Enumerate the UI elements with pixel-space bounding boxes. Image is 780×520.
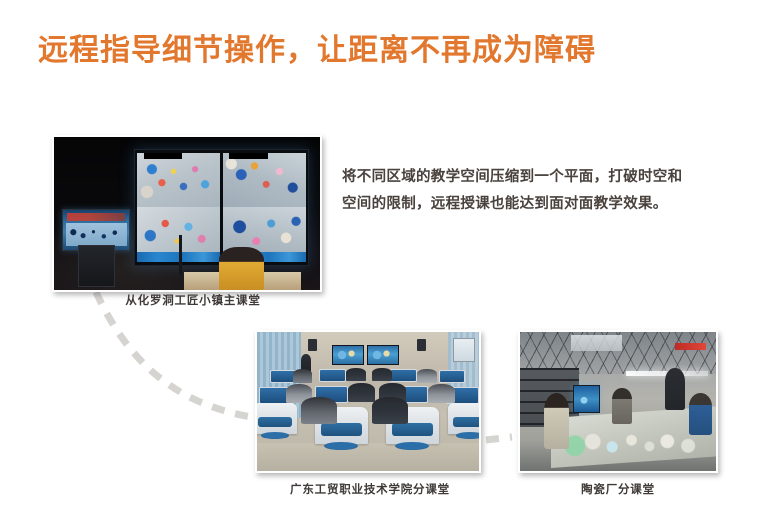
lab-seat (257, 403, 297, 434)
photo-ceramics-factory[interactable] (518, 330, 718, 473)
lab-window (453, 338, 475, 362)
lab-seat-pad (258, 417, 292, 427)
caption-college-classroom: 广东工贸职业技术学院分课堂 (272, 481, 468, 497)
lab-display-right (367, 345, 399, 366)
lab-student (301, 397, 337, 424)
photo-ceramics-factory-image (520, 332, 716, 471)
lab-front-displays (332, 345, 399, 366)
video-feed-1 (137, 153, 220, 207)
lab-seat-pad (321, 423, 361, 436)
caption-main-classroom: 从化罗洞工匠小镇主课堂 (108, 292, 278, 308)
factory-red-banner (675, 343, 706, 350)
lab-student (417, 369, 437, 382)
lab-seat-rows (257, 368, 479, 471)
photo-college-classroom-image (257, 332, 479, 471)
lab-seat-pad (453, 417, 479, 427)
photo-college-classroom[interactable] (255, 330, 481, 473)
lab-student (348, 383, 375, 403)
lab-display-left (332, 345, 364, 366)
factory-worker (665, 368, 685, 410)
factory-skylight (571, 335, 622, 352)
caption-ceramics-factory: 陶瓷厂分课堂 (548, 481, 688, 497)
hall-video-wall (134, 149, 310, 265)
lab-seat-base (456, 432, 479, 439)
feed-label-bar (144, 153, 182, 159)
body-text-line-2: 空间的限制，远程授课也能达到面对面教学效果。 (342, 191, 750, 218)
lab-speaker-right (417, 339, 426, 352)
lab-student (372, 397, 408, 424)
factory-worker (612, 388, 632, 424)
factory-worker (689, 393, 713, 435)
lab-seat-base (261, 432, 289, 439)
lab-student (293, 369, 313, 382)
hall-instructor (219, 247, 264, 290)
photo-main-classroom[interactable] (52, 135, 322, 292)
lab-monitor (390, 369, 416, 382)
feed-label-bar (229, 153, 267, 159)
hall-microphone-stand (179, 235, 182, 275)
lab-student (372, 368, 392, 381)
slide-canvas: 远程指导细节操作，让距离不再成为障碍 (0, 0, 780, 520)
lab-seat-base (395, 442, 429, 450)
video-feed-2 (223, 153, 306, 207)
lab-seat-pad (392, 423, 432, 436)
factory-screen (573, 385, 600, 413)
lab-student (428, 384, 455, 404)
lab-seat-base (324, 442, 358, 450)
lab-seat (448, 403, 479, 434)
page-title: 远程指导细节操作，让距离不再成为障碍 (38, 33, 596, 69)
connector-college-to-factory (486, 437, 512, 440)
video-wall-panel-right (223, 153, 306, 262)
body-text-line-1: 将不同区域的教学空间压缩到一个平面，打破时空和 (342, 164, 750, 191)
photo-main-classroom-image (54, 137, 320, 290)
hall-podium (78, 245, 115, 287)
lab-monitor (319, 369, 345, 382)
connector-main-to-college (96, 292, 258, 418)
lab-monitor (439, 370, 465, 383)
body-text: 将不同区域的教学空间压缩到一个平面，打破时空和 空间的限制，远程授课也能达到面对… (342, 164, 750, 218)
lab-speaker-left (308, 339, 317, 352)
lab-student (346, 368, 366, 381)
factory-worker (544, 393, 569, 449)
